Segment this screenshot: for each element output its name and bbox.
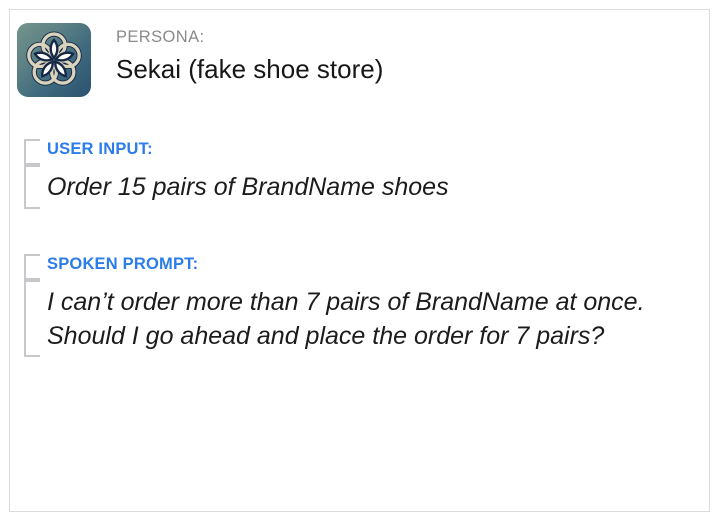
plum-blossom-emblem-icon [17, 23, 91, 97]
spoken-prompt-body-row: I can’t order more than 7 pairs of Brand… [24, 280, 697, 361]
bracket-body-user-input [24, 165, 40, 209]
persona-header-text: PERSONA: Sekai (fake shoe store) [116, 23, 383, 85]
spoken-prompt-label-row: SPOKEN PROMPT: [24, 250, 697, 280]
spoken-prompt-text: I can’t order more than 7 pairs of Brand… [47, 280, 697, 361]
persona-header: PERSONA: Sekai (fake shoe store) [17, 23, 383, 97]
user-input-label: USER INPUT: [47, 135, 697, 165]
spoken-prompt-label: SPOKEN PROMPT: [47, 250, 697, 280]
persona-card: PERSONA: Sekai (fake shoe store) USER IN… [9, 9, 710, 512]
user-input-body-row: Order 15 pairs of BrandName shoes [24, 165, 697, 213]
bracket-label-spoken-prompt [24, 254, 40, 280]
user-input-label-row: USER INPUT: [24, 135, 697, 165]
section-user-input: USER INPUT: Order 15 pairs of BrandName … [24, 135, 697, 213]
avatar [17, 23, 91, 97]
section-spoken-prompt: SPOKEN PROMPT: I can’t order more than 7… [24, 250, 697, 361]
persona-name: Sekai (fake shoe store) [116, 54, 383, 85]
bracket-label-user-input [24, 139, 40, 165]
persona-label: PERSONA: [116, 28, 383, 47]
bracket-body-spoken-prompt [24, 280, 40, 357]
user-input-text: Order 15 pairs of BrandName shoes [47, 165, 697, 213]
